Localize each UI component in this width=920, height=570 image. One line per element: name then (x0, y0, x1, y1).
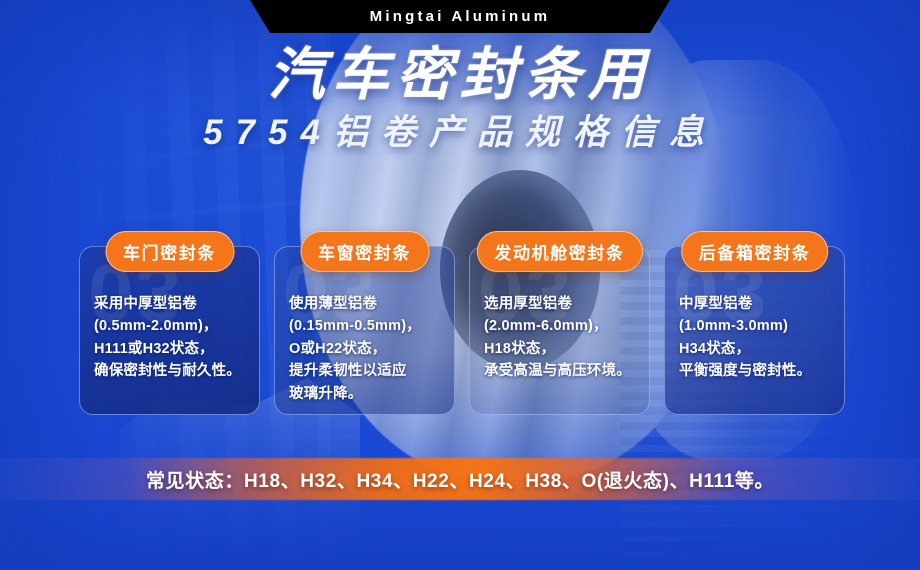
title-block: 汽车密封条用 5754铝卷产品规格信息 (0, 46, 920, 152)
card-body-door-seal: 采用中厚型铝卷 (0.5mm-2.0mm)， H111或H32状态， 确保密封性… (94, 293, 249, 383)
spec-card-engine-bay-seal: 03 发动机舱密封条 选用厚型铝卷 (2.0mm-6.0mm)， H18状态， … (469, 246, 650, 415)
card-title-pill-door-seal: 车门密封条 (105, 231, 234, 272)
card-body-window-seal: 使用薄型铝卷 (0.15mm-0.5mm)， O或H22状态， 提升柔韧性以适应… (289, 293, 444, 405)
footer-temper-states: 常见状态：H18、H32、H34、H22、H24、H38、O(退火态)、H111… (0, 458, 920, 500)
page-subtitle: 5754铝卷产品规格信息 (0, 114, 920, 153)
top-banner: Mingtai Aluminum (0, 0, 920, 33)
spec-card-list: 03 车门密封条 采用中厚型铝卷 (0.5mm-2.0mm)， H111或H32… (79, 246, 845, 415)
spec-card-trunk-seal: 03 后备箱密封条 中厚型铝卷 (1.0mm-3.0mm) H34状态， 平衡强… (664, 246, 845, 415)
card-body-trunk-seal: 中厚型铝卷 (1.0mm-3.0mm) H34状态， 平衡强度与密封性。 (679, 293, 834, 383)
card-title-pill-window-seal: 车窗密封条 (300, 231, 429, 272)
card-title-pill-trunk-seal: 后备箱密封条 (681, 231, 829, 272)
infographic-poster: Mingtai Aluminum 汽车密封条用 5754铝卷产品规格信息 03 … (0, 0, 920, 570)
card-title-pill-engine-bay-seal: 发动机舱密封条 (476, 231, 642, 272)
spec-card-door-seal: 03 车门密封条 采用中厚型铝卷 (0.5mm-2.0mm)， H111或H32… (79, 246, 260, 415)
brand-name: Mingtai Aluminum (250, 0, 670, 33)
spec-card-window-seal: 03 车窗密封条 使用薄型铝卷 (0.15mm-0.5mm)， O或H22状态，… (274, 246, 455, 415)
page-title: 汽车密封条用 (0, 46, 920, 106)
card-body-engine-bay-seal: 选用厚型铝卷 (2.0mm-6.0mm)， H18状态， 承受高温与高压环境。 (484, 293, 639, 383)
